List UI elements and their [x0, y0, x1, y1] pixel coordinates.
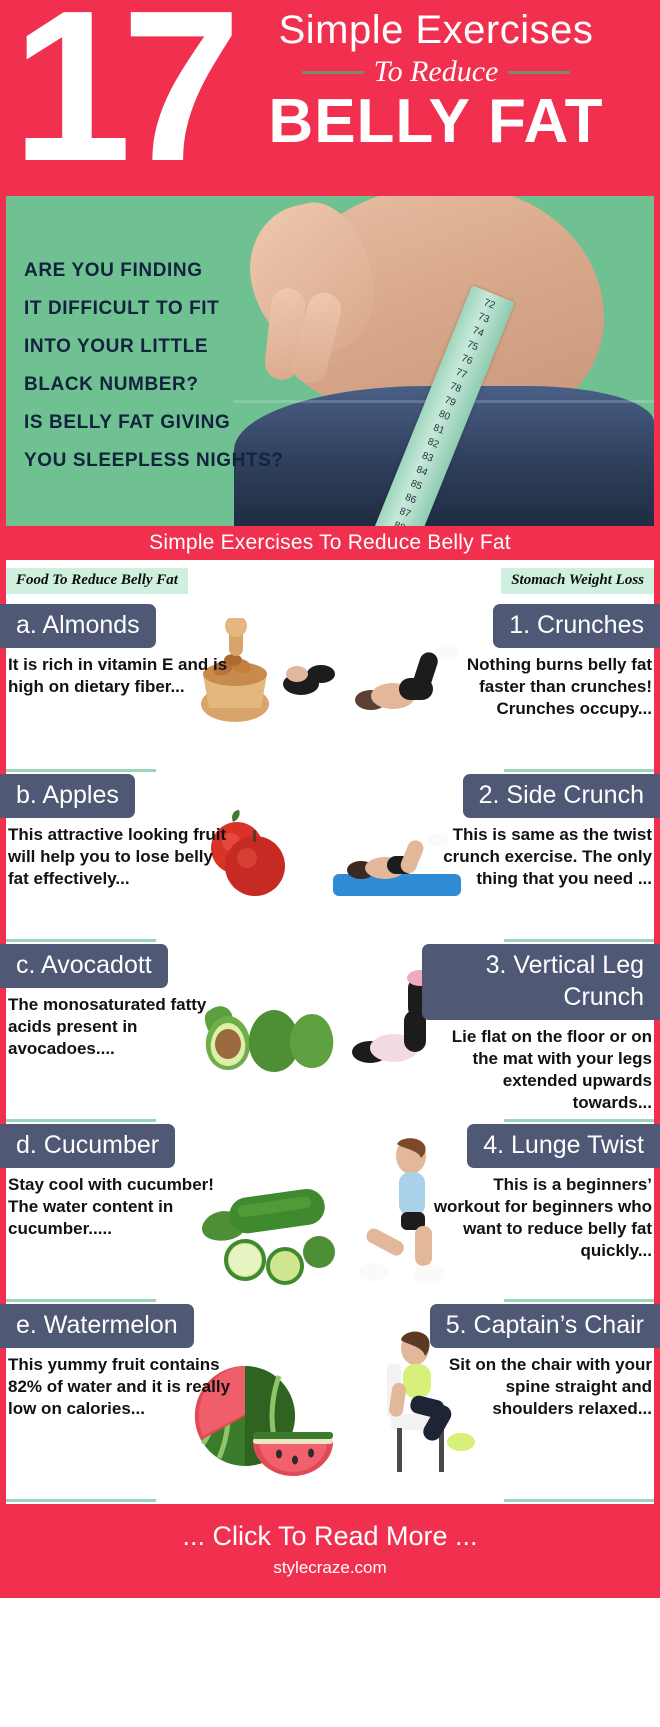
content-row: a. AlmondsIt is rich in vitamin E and is…	[6, 604, 654, 774]
row-divider	[6, 939, 156, 942]
food-cell: d. CucumberStay cool with cucumber! The …	[6, 1124, 238, 1240]
hero-panel: 7273747576777879808182838485868788 ARE Y…	[0, 196, 660, 526]
food-item-title[interactable]: b. Apples	[0, 774, 135, 818]
exercise-item-title[interactable]: 4. Lunge Twist	[467, 1124, 660, 1168]
exercise-item-title[interactable]: 1. Crunches	[493, 604, 660, 648]
row-divider	[504, 769, 654, 772]
food-item-title[interactable]: c. Avocadott	[0, 944, 168, 988]
rule-left-icon	[302, 71, 364, 74]
row-divider	[504, 1499, 654, 1502]
food-item-body: It is rich in vitamin E and is high on d…	[6, 654, 238, 698]
row-divider	[504, 1299, 654, 1302]
headline-line-1: Simple Exercises	[222, 8, 650, 52]
content-row: d. CucumberStay cool with cucumber! The …	[6, 1124, 654, 1304]
food-cell: a. AlmondsIt is rich in vitamin E and is…	[6, 604, 238, 698]
row-divider	[6, 1119, 156, 1122]
row-divider	[6, 1299, 156, 1302]
hero-line: IS BELLY FAT GIVING	[24, 404, 324, 442]
rows-container: a. AlmondsIt is rich in vitamin E and is…	[6, 604, 654, 1504]
content-row: e. WatermelonThis yummy fruit contains 8…	[6, 1304, 654, 1504]
exercise-item-body: Lie flat on the floor or on the mat with…	[422, 1026, 654, 1114]
headline-text-group: Simple Exercises To Reduce BELLY FAT	[222, 8, 650, 154]
header-banner: 17 Simple Exercises To Reduce BELLY FAT	[0, 0, 660, 196]
hero-line: BLACK NUMBER?	[24, 366, 324, 404]
column-header-stomach: Stomach Weight Loss	[501, 568, 654, 594]
headline-number: 17	[12, 0, 231, 193]
rule-right-icon	[508, 71, 570, 74]
exercise-item-title[interactable]: 3. Vertical Leg Crunch	[422, 944, 660, 1020]
content-row: b. ApplesThis attractive looking fruit w…	[6, 774, 654, 944]
exercise-cell: 1. CrunchesNothing burns belly fat faste…	[422, 604, 654, 720]
read-more-link[interactable]: ... Click To Read More ...	[0, 1520, 660, 1552]
infographic-page: 17 Simple Exercises To Reduce BELLY FAT …	[0, 0, 660, 1727]
hero-line: IT DIFFICULT TO FIT	[24, 290, 324, 328]
exercise-item-title[interactable]: 5. Captain’s Chair	[430, 1304, 660, 1348]
food-cell: e. WatermelonThis yummy fruit contains 8…	[6, 1304, 238, 1420]
food-item-body: This attractive looking fruit will help …	[6, 824, 238, 890]
food-item-title[interactable]: e. Watermelon	[0, 1304, 194, 1348]
food-item-title[interactable]: d. Cucumber	[0, 1124, 175, 1168]
hero-line: INTO YOUR LITTLE	[24, 328, 324, 366]
exercise-item-title[interactable]: 2. Side Crunch	[463, 774, 660, 818]
column-header-food: Food To Reduce Belly Fat	[6, 568, 188, 594]
exercise-item-body: This is a beginners’ workout for beginne…	[422, 1174, 654, 1262]
headline-line-2-row: To Reduce	[222, 56, 650, 88]
exercise-cell: 3. Vertical Leg CrunchLie flat on the fl…	[422, 944, 654, 1114]
food-item-body: This yummy fruit contains 82% of water a…	[6, 1354, 238, 1420]
exercise-cell: 5. Captain’s ChairSit on the chair with …	[422, 1304, 654, 1420]
food-cell: c. AvocadottThe monosaturated fatty acid…	[6, 944, 238, 1060]
exercise-item-body: This is same as the twist crunch exercis…	[422, 824, 654, 890]
content-area: Food To Reduce Belly Fat Stomach Weight …	[0, 560, 660, 1504]
hero-text-block: ARE YOU FINDING IT DIFFICULT TO FIT INTO…	[24, 252, 324, 480]
subtitle-bar: Simple Exercises To Reduce Belly Fat	[0, 526, 660, 560]
exercise-item-body: Sit on the chair with your spine straigh…	[422, 1354, 654, 1420]
food-item-body: Stay cool with cucumber! The water conte…	[6, 1174, 238, 1240]
row-divider	[504, 1119, 654, 1122]
hero-line: YOU SLEEPLESS NIGHTS?	[24, 442, 324, 480]
subtitle-text: Simple Exercises To Reduce Belly Fat	[149, 531, 511, 555]
footer: ... Click To Read More ... stylecraze.co…	[0, 1504, 660, 1598]
headline-line-3: BELLY FAT	[222, 90, 650, 154]
headline-line-2: To Reduce	[374, 56, 499, 88]
exercise-cell: 4. Lunge TwistThis is a beginners’ worko…	[422, 1124, 654, 1262]
row-divider	[6, 1499, 156, 1502]
site-url: stylecraze.com	[0, 1556, 660, 1580]
content-row: c. AvocadottThe monosaturated fatty acid…	[6, 944, 654, 1124]
exercise-item-body: Nothing burns belly fat faster than crun…	[422, 654, 654, 720]
food-cell: b. ApplesThis attractive looking fruit w…	[6, 774, 238, 890]
row-divider	[504, 939, 654, 942]
hero-line: ARE YOU FINDING	[24, 252, 324, 290]
column-headers: Food To Reduce Belly Fat Stomach Weight …	[6, 568, 654, 594]
row-divider	[6, 769, 156, 772]
food-item-title[interactable]: a. Almonds	[0, 604, 156, 648]
exercise-cell: 2. Side CrunchThis is same as the twist …	[422, 774, 654, 890]
food-item-body: The monosaturated fatty acids present in…	[6, 994, 238, 1060]
